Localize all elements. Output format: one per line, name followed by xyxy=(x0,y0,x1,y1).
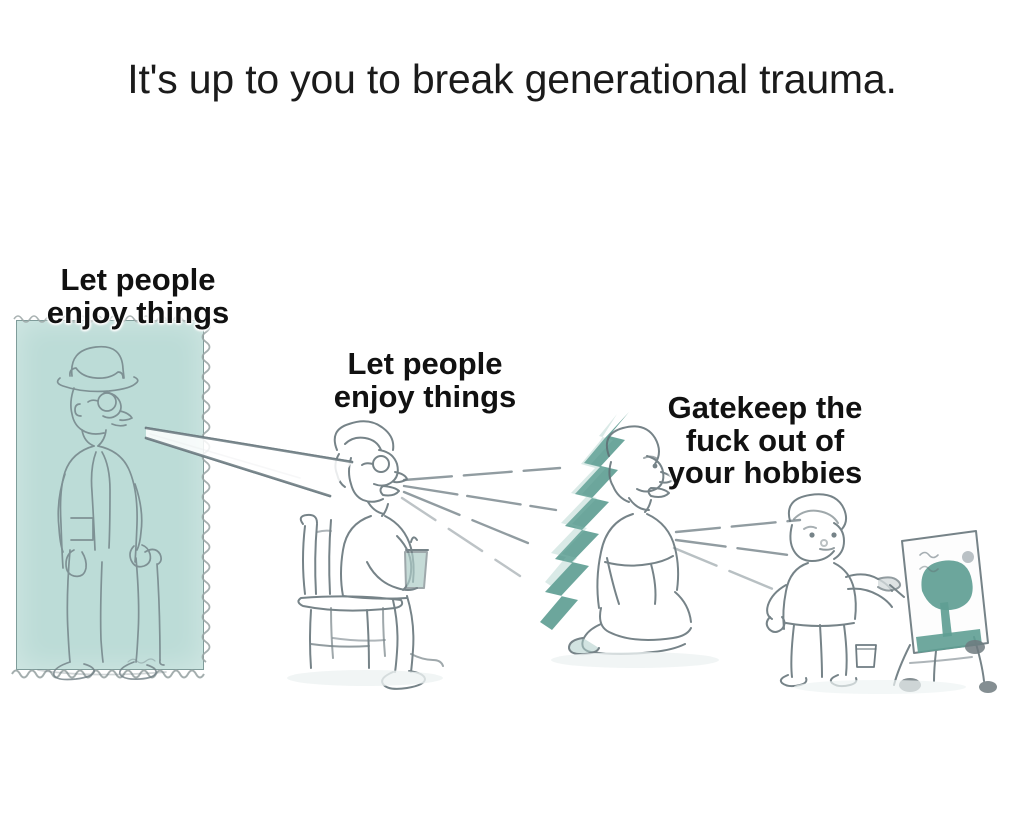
top-caption: It's up to you to break generational tra… xyxy=(0,56,1024,103)
meme-image: It's up to you to break generational tra… xyxy=(0,0,1024,825)
speech-beam-icon-3 xyxy=(674,520,800,592)
label-panel-1: Let people enjoy things xyxy=(18,264,258,329)
speech-beam-icon-2 xyxy=(402,468,560,576)
label-panel-3: Gatekeep the fuck out of your hobbies xyxy=(630,392,900,490)
label-panel-2: Let people enjoy things xyxy=(300,348,550,413)
